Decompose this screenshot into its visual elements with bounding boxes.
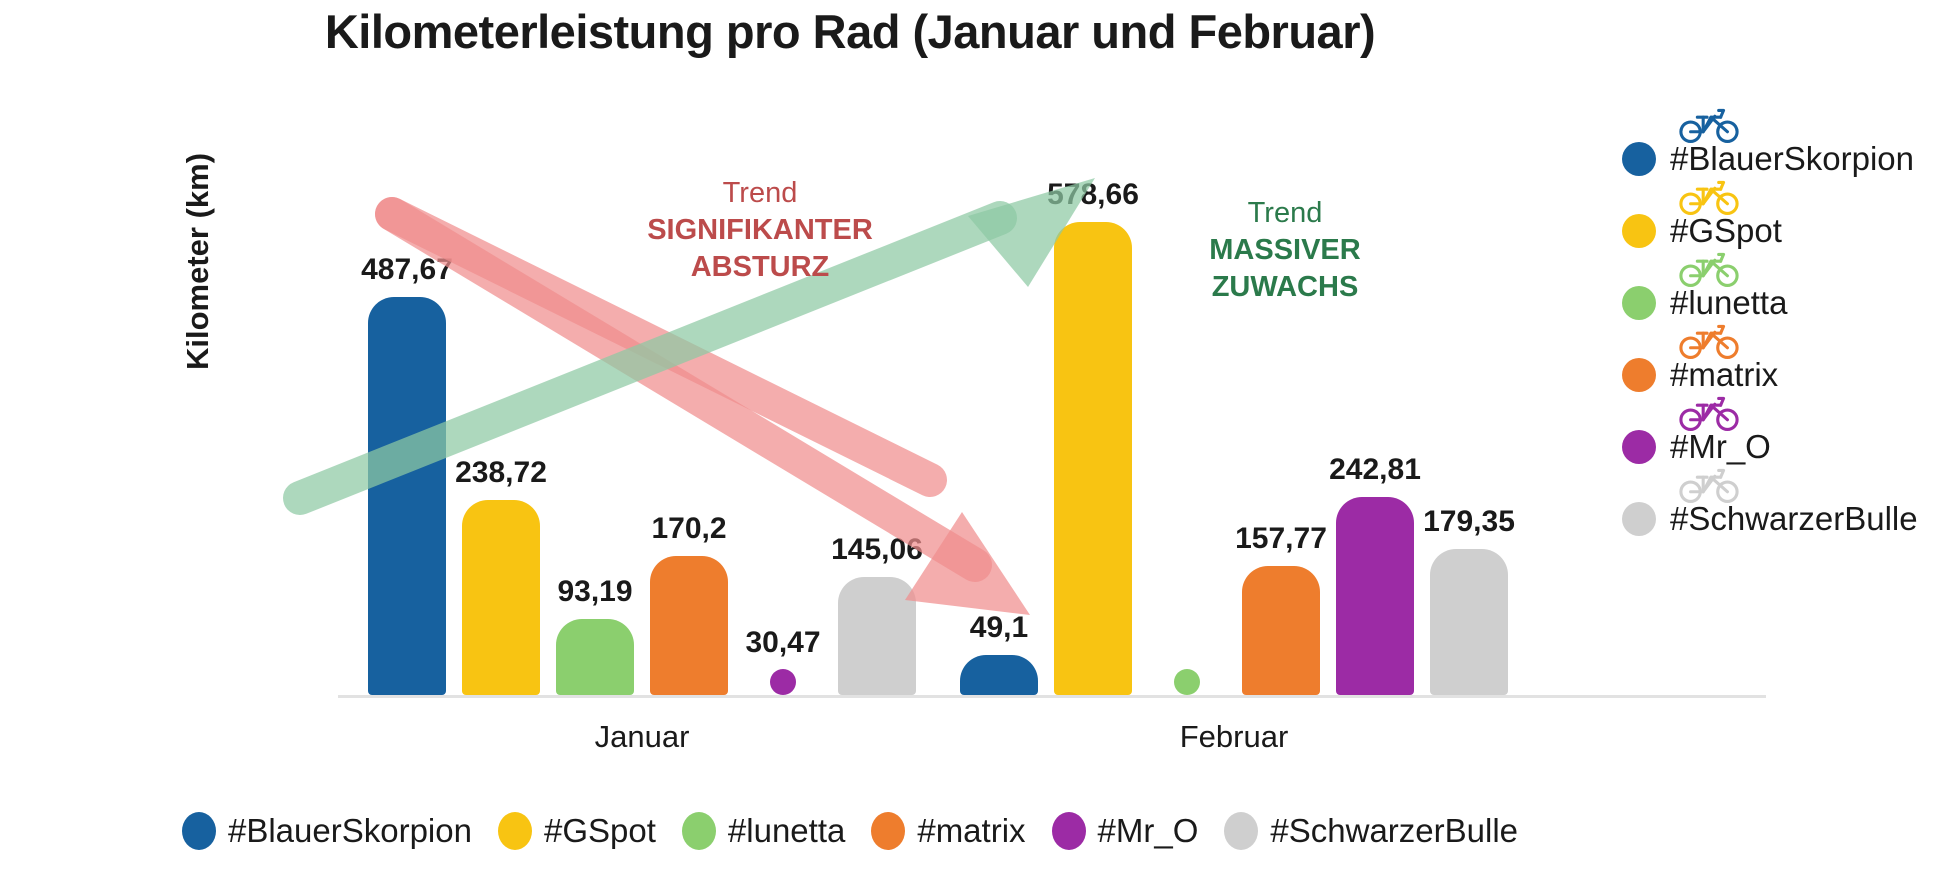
bicycle-icon [1678,176,1740,216]
bar-value-label: 93,19 [557,575,632,609]
bar-value-label: 30,47 [745,626,820,660]
bicycle-icon [1678,320,1740,360]
bicycle-icon [1678,104,1740,144]
legend-right-item[interactable]: #GSpot [1622,192,1960,264]
legend-right-item[interactable]: #Mr_O [1622,408,1960,480]
bar[interactable] [462,500,540,695]
bar[interactable] [650,556,728,695]
legend-right-item[interactable]: #BlauerSkorpion [1622,120,1960,192]
bicycle-icon [1678,464,1740,504]
legend-color-swatch [1622,502,1656,536]
legend-bottom: #BlauerSkorpion#GSpot#lunetta#matrix#Mr_… [0,812,1700,850]
legend-color-swatch [1622,142,1656,176]
legend-bottom-item[interactable]: #lunetta [682,812,845,850]
bicycle-icon [1678,176,1740,216]
bar[interactable] [1174,669,1200,695]
legend-color-swatch [1622,214,1656,248]
bicycle-icon [1678,464,1740,504]
legend-bottom-item[interactable]: #Mr_O [1052,812,1199,850]
legend-color-swatch [1052,812,1086,850]
bar[interactable] [770,669,796,695]
bicycle-icon [1678,248,1740,288]
legend-right-item[interactable]: #SchwarzerBulle [1622,480,1960,552]
bar[interactable] [960,655,1038,695]
legend-color-swatch [1224,812,1258,850]
legend-right-label: #SchwarzerBulle [1670,500,1918,538]
bar-value-label: 487,67 [361,253,453,287]
legend-right-item[interactable]: #matrix [1622,336,1960,408]
legend-bottom-item[interactable]: #matrix [871,812,1025,850]
x-axis-baseline [338,695,1766,698]
legend-right-label: #Mr_O [1670,428,1771,466]
trend-annotation-up: Trend MASSIVER ZUWACHS [1155,195,1415,306]
bar[interactable] [1242,566,1320,695]
legend-color-swatch [1622,286,1656,320]
bar[interactable] [1054,222,1132,695]
bar-value-label: 145,06 [831,533,923,567]
legend-bottom-item[interactable]: #GSpot [498,812,656,850]
legend-bottom-label: #Mr_O [1098,812,1199,850]
bicycle-icon [1678,248,1740,288]
chart-canvas: Kilometerleistung pro Rad (Januar und Fe… [0,0,1960,878]
bar[interactable] [838,577,916,695]
legend-right-label: #BlauerSkorpion [1670,140,1914,178]
bicycle-icon [1678,104,1740,144]
trend-up-line2: ZUWACHS [1155,269,1415,306]
legend-bottom-label: #BlauerSkorpion [228,812,472,850]
trend-up-line1: MASSIVER [1155,232,1415,269]
bicycle-icon [1678,392,1740,432]
bar-value-label: 242,81 [1329,453,1421,487]
bicycle-icon [1678,320,1740,360]
x-axis-tick-label: Februar [1180,719,1289,755]
page-title: Kilometerleistung pro Rad (Januar und Fe… [0,4,1700,59]
legend-color-swatch [1622,358,1656,392]
legend-color-swatch [498,812,532,850]
bar-value-label: 578,66 [1047,178,1139,212]
legend-right: #BlauerSkorpion#GSpot#lunetta#matrix#Mr_… [1622,120,1960,552]
bar[interactable] [1430,549,1508,695]
trend-down-line1: SIGNIFIKANTER [620,212,900,249]
bar[interactable] [1336,497,1414,695]
legend-right-label: #GSpot [1670,212,1782,250]
legend-bottom-item[interactable]: #SchwarzerBulle [1224,812,1518,850]
bar[interactable] [368,297,446,695]
trend-up-head: Trend [1155,195,1415,232]
bar[interactable] [556,619,634,695]
bar-value-label: 179,35 [1423,505,1515,539]
bar-value-label: 157,77 [1235,522,1327,556]
legend-bottom-label: #lunetta [728,812,845,850]
legend-color-swatch [871,812,905,850]
legend-bottom-item[interactable]: #BlauerSkorpion [182,812,472,850]
bar-value-label: 49,1 [970,611,1028,645]
legend-bottom-label: #SchwarzerBulle [1270,812,1518,850]
trend-down-line2: ABSTURZ [620,249,900,286]
trend-annotation-down: Trend SIGNIFIKANTER ABSTURZ [620,175,900,286]
legend-color-swatch [682,812,716,850]
legend-color-swatch [1622,430,1656,464]
bicycle-icon [1678,392,1740,432]
y-axis-title: Kilometer (km) [180,153,216,370]
legend-right-label: #matrix [1670,356,1778,394]
bar-value-label: 170,2 [651,512,726,546]
trend-down-head: Trend [620,175,900,212]
legend-right-item[interactable]: #lunetta [1622,264,1960,336]
legend-color-swatch [182,812,216,850]
bar-value-label: 238,72 [455,456,547,490]
x-axis-tick-label: Januar [595,719,690,755]
legend-bottom-label: #GSpot [544,812,656,850]
legend-bottom-label: #matrix [917,812,1025,850]
legend-right-label: #lunetta [1670,284,1787,322]
